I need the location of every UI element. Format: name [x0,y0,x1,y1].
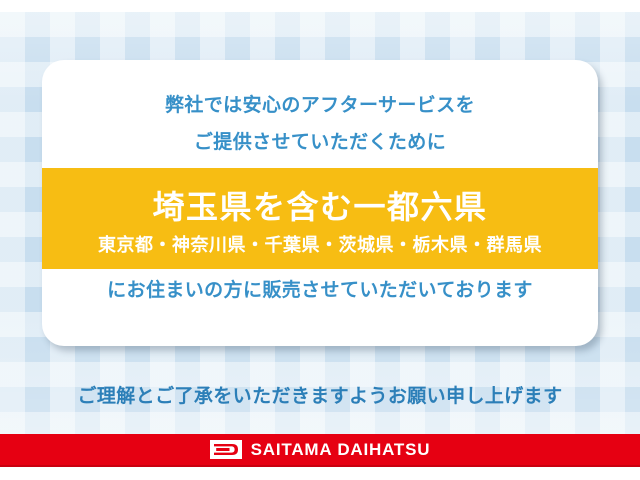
region-heading: 埼玉県を含む一都六県 [42,182,598,228]
brand-footer: SAITAMA DAIHATSU [0,434,640,465]
card-top-line-1: 弊社では安心のアフターサービスを [42,90,598,117]
notice-card: 弊社では安心のアフターサービスを ご提供させていただくために 埼玉県を含む一都六… [42,60,598,346]
card-bottom-line: にお住まいの方に販売させていただいております [42,275,598,302]
brand-lockup: SAITAMA DAIHATSU [210,440,431,460]
region-prefecture-list: 東京都・神奈川県・千葉県・茨城県・栃木県・群馬県 [42,231,598,257]
closing-note: ご理解とご了承をいただきますようお願い申し上げます [0,381,640,408]
brand-name: SAITAMA DAIHATSU [251,440,431,460]
region-highlight-band: 埼玉県を含む一都六県 東京都・神奈川県・千葉県・茨城県・栃木県・群馬県 [42,168,598,269]
card-top-line-2: ご提供させていただくために [42,127,598,154]
promo-banner: 弊社では安心のアフターサービスを ご提供させていただくために 埼玉県を含む一都六… [0,0,640,480]
footer-underline [0,465,640,467]
daihatsu-d-logo-icon [210,440,242,459]
